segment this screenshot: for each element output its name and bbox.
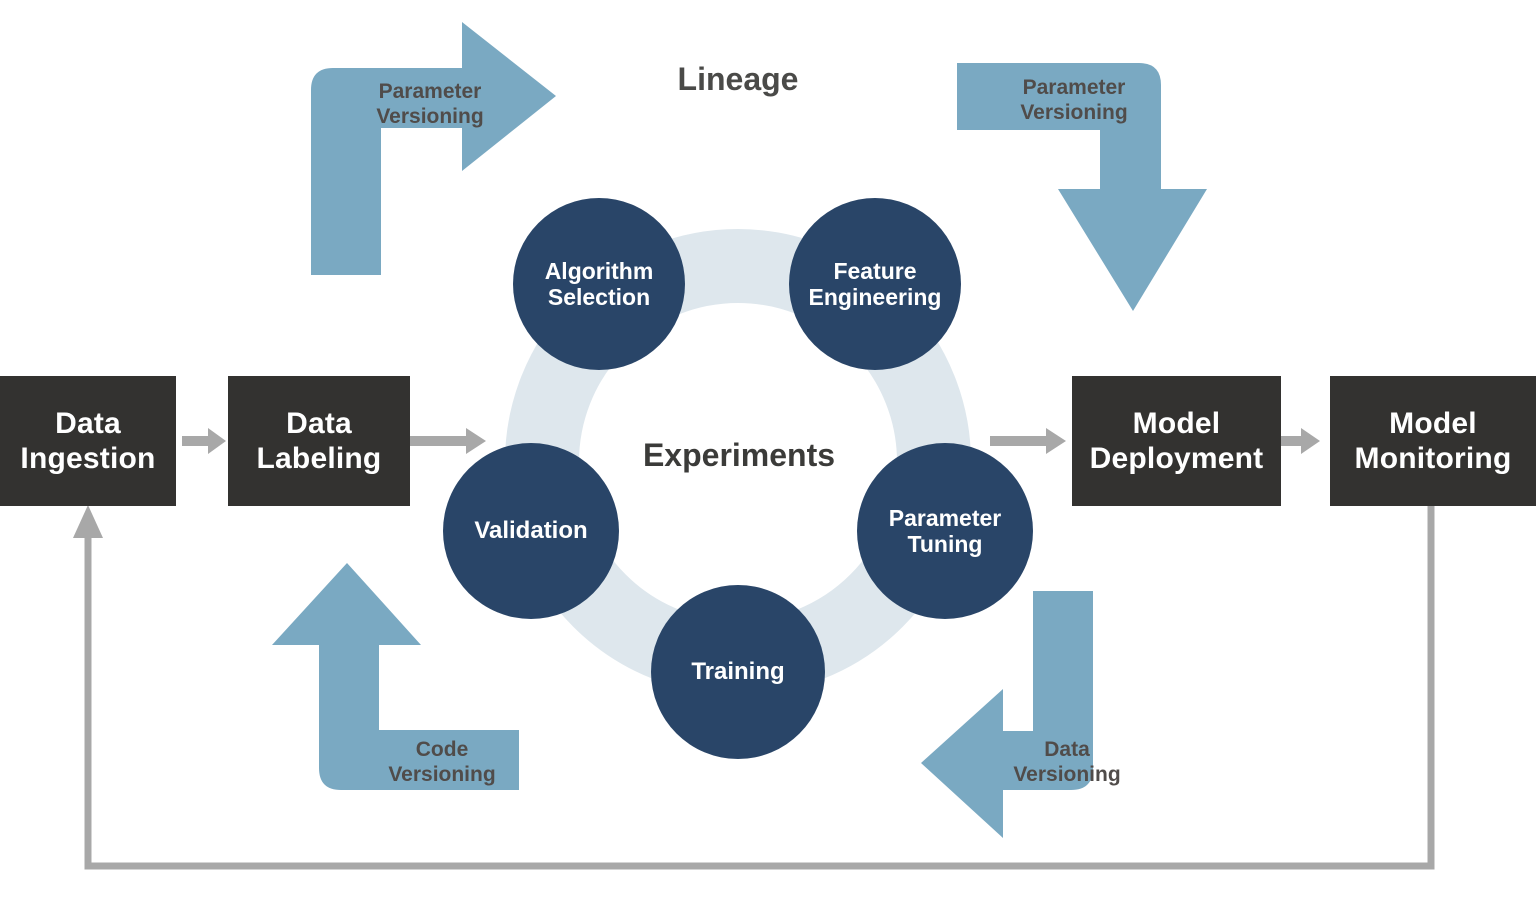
arrow-label-bottom-left-code-versioning: Code Versioning	[333, 738, 551, 788]
outer-feedback-loop-arrowhead	[73, 505, 103, 538]
arrow-label-bottom-right-data-versioning: Data Versioning	[958, 738, 1176, 788]
pipeline-box-data-labeling[interactable]: Data Labeling	[228, 376, 410, 506]
diagram-title-lineage: Lineage	[608, 61, 868, 99]
ring-node-label: Validation	[474, 517, 587, 545]
pipeline-box-label: Model Monitoring	[1355, 406, 1512, 477]
ring-node-label: Feature Engineering	[809, 258, 942, 311]
arrow-label-top-right-parameter-versioning: Parameter Versioning	[965, 76, 1183, 126]
pipeline-box-label: Data Ingestion	[20, 406, 155, 477]
arrow-top-left-parameter-versioning	[311, 22, 556, 275]
mlops-lifecycle-diagram: Data Ingestion Data Labeling Model Deplo…	[0, 0, 1536, 904]
ring-node-validation[interactable]: Validation	[443, 443, 619, 619]
pipeline-box-model-monitoring[interactable]: Model Monitoring	[1330, 376, 1536, 506]
ring-node-label: Algorithm Selection	[545, 258, 654, 311]
pipeline-box-model-deployment[interactable]: Model Deployment	[1072, 376, 1281, 506]
ring-node-parameter-tuning[interactable]: Parameter Tuning	[857, 443, 1033, 619]
ring-node-label: Parameter Tuning	[889, 505, 1002, 558]
ring-node-label: Training	[691, 658, 784, 686]
pipeline-box-label: Data Labeling	[257, 406, 382, 477]
ring-node-feature-engineering[interactable]: Feature Engineering	[789, 198, 961, 370]
ring-node-training[interactable]: Training	[651, 585, 825, 759]
pipeline-box-label: Model Deployment	[1090, 406, 1264, 477]
pipeline-box-data-ingestion[interactable]: Data Ingestion	[0, 376, 176, 506]
ring-node-algorithm-selection[interactable]: Algorithm Selection	[513, 198, 685, 370]
experiments-center-label: Experiments	[608, 437, 870, 475]
arrow-bottom-right-data-versioning	[921, 591, 1093, 838]
arrow-label-top-left-parameter-versioning: Parameter Versioning	[321, 80, 539, 130]
